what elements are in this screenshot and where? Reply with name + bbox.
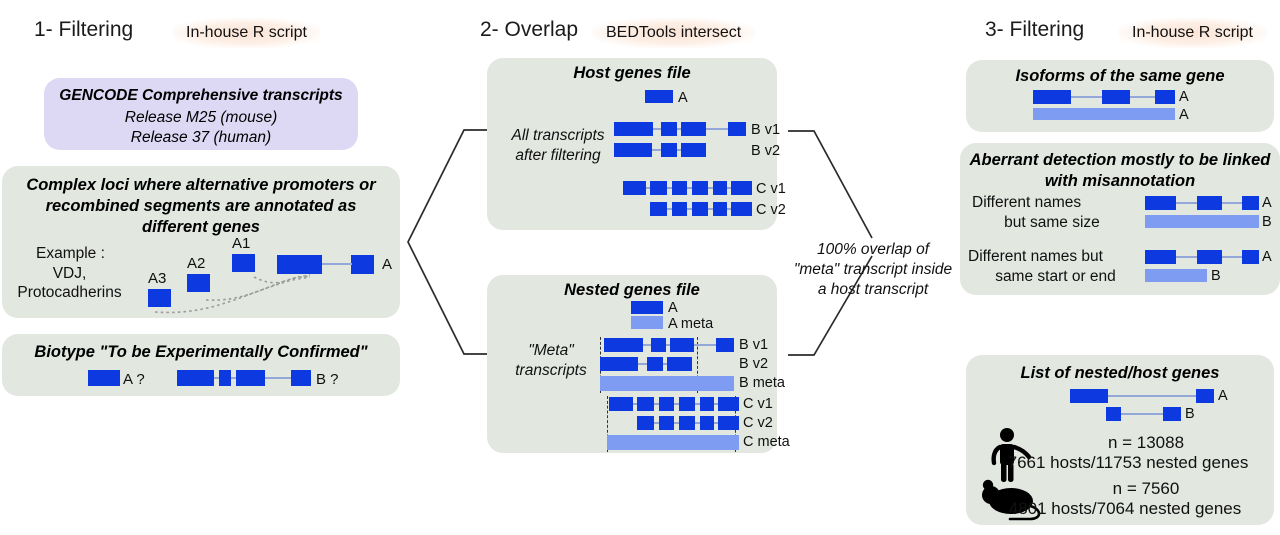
exon-results-a-1 <box>1070 389 1108 403</box>
host-label-b2: B v2 <box>751 144 780 159</box>
exon-biotype-b-2 <box>219 370 231 386</box>
biotype-panel: Biotype "To be Experimentally Confirmed"… <box>2 334 400 396</box>
exon-nested-c1-3 <box>659 397 674 411</box>
intron-host-b1-3 <box>706 128 728 130</box>
exon-host-c1-2 <box>650 181 667 195</box>
aberrant-case2-diagram: A B <box>960 143 1280 295</box>
results-label-b: B <box>1185 407 1195 422</box>
exon-nested-b1-2 <box>651 338 666 352</box>
exon-nested-c2-2 <box>659 416 674 430</box>
exon-aberrant-c2-a-1 <box>1145 250 1176 264</box>
intron-results-b-1 <box>1121 413 1163 415</box>
host-label-b1: B v1 <box>751 123 780 138</box>
nested-label-b-meta: B meta <box>739 376 785 391</box>
exon-host-c1-6 <box>731 181 752 195</box>
nested-genes-diagram: A A meta B v1 B v2 B meta <box>487 275 777 453</box>
aberrant-panel: Aberrant detection mostly to be linked w… <box>960 143 1280 295</box>
intron-biotype-b-3 <box>265 377 291 379</box>
complex-loci-panel: Complex loci where alternative promoters… <box>2 166 400 318</box>
exon-a1 <box>232 254 255 272</box>
intron-aberrant-c2-a-2 <box>1222 256 1242 258</box>
step-2-tool-chip: BEDTools intersect <box>592 18 755 48</box>
exon-host-b1-1 <box>614 122 653 136</box>
biotype-diagram: A ? B ? <box>2 334 400 396</box>
exon-isoform-a-1 <box>1033 90 1071 104</box>
host-label-c1: C v1 <box>756 182 786 197</box>
exon-host-b2-3 <box>681 143 706 157</box>
gencode-line-1: GENCODE Comprehensive transcripts <box>44 87 358 106</box>
gencode-line-3: Release 37 (human) <box>44 129 358 148</box>
exon-host-b1-3 <box>681 122 706 136</box>
metabar-nested-a <box>631 316 663 329</box>
isoforms-label-bottom: A <box>1179 108 1189 123</box>
exon-nested-c2-3 <box>679 416 695 430</box>
exon-nested-c1-6 <box>718 397 739 411</box>
exon-nested-b2-1 <box>600 357 638 371</box>
exon-host-c1-3 <box>672 181 687 195</box>
results-human-n: n = 13088 <box>1018 433 1274 453</box>
results-label-a: A <box>1218 389 1228 404</box>
intron-isoform-a-1 <box>1071 96 1102 98</box>
intron-results-a-1 <box>1108 395 1196 397</box>
complex-loci-label-a1: A1 <box>232 236 250 251</box>
metabar-nested-b <box>600 376 734 391</box>
exon-host-c2-3 <box>692 202 708 216</box>
overlap-note-line-3: a host transcript <box>780 280 966 300</box>
step-1-title: 1- Filtering <box>34 18 133 42</box>
exon-nested-b2-3 <box>667 357 692 371</box>
exon-host-b1-4 <box>728 122 746 136</box>
exon-biotype-b-4 <box>291 370 311 386</box>
exon-nested-b2-2 <box>647 357 663 371</box>
gencode-panel: GENCODE Comprehensive transcripts Releas… <box>44 78 358 150</box>
exon-nested-c1-5 <box>700 397 714 411</box>
host-label-a: A <box>678 91 688 106</box>
exon-isoform-a-2 <box>1102 90 1130 104</box>
exon-host-c2-4 <box>713 202 727 216</box>
complex-loci-label-a: A <box>382 257 392 272</box>
isoforms-panel: Isoforms of the same gene A A <box>966 60 1274 132</box>
results-human-detail: 7661 hosts/11753 nested genes <box>982 453 1274 473</box>
exon-host-c2-5 <box>731 202 752 216</box>
exon-a3 <box>148 289 171 307</box>
step-3-title: 3- Filtering <box>985 18 1084 42</box>
isoforms-diagram: A A <box>966 60 1274 132</box>
left-bracket-connector <box>404 122 490 362</box>
intron-isoform-a-2 <box>1130 96 1155 98</box>
exon-a-main-1 <box>277 255 322 274</box>
complex-loci-diagram: A3 A2 A1 A <box>2 166 400 318</box>
exon-isoform-a-3 <box>1155 90 1175 104</box>
overlap-note-line-2: "meta" transcript inside <box>780 260 966 280</box>
exon-a2 <box>187 274 210 292</box>
exon-biotype-b-1 <box>177 370 214 386</box>
nested-label-b1: B v1 <box>739 338 768 353</box>
biotype-label-b: B ? <box>316 372 339 387</box>
exon-nested-a <box>631 301 663 314</box>
intron-nested-b1-3 <box>694 344 716 346</box>
aberrant-case2-label-a: A <box>1262 250 1272 265</box>
nested-label-c1: C v1 <box>743 397 773 412</box>
exon-host-b2-1 <box>614 143 652 157</box>
intron-nested-b1-1 <box>643 344 651 346</box>
exon-biotype-b-3 <box>236 370 265 386</box>
exon-nested-b1-3 <box>670 338 694 352</box>
intron-host-b1-1 <box>653 128 661 130</box>
exon-host-c1-5 <box>713 181 727 195</box>
complex-loci-label-a2: A2 <box>187 256 205 271</box>
results-mouse-n: n = 7560 <box>1018 479 1274 499</box>
nested-label-c2: C v2 <box>743 416 773 431</box>
nested-label-a: A <box>668 301 678 316</box>
results-mouse-detail: 4801 hosts/7064 nested genes <box>976 499 1274 519</box>
exon-host-a <box>645 90 673 103</box>
exon-results-b-2 <box>1163 407 1181 421</box>
exon-nested-b1-1 <box>604 338 643 352</box>
exon-host-c1-4 <box>692 181 708 195</box>
exon-aberrant-c2-a-3 <box>1242 250 1259 264</box>
exon-nested-c1-1 <box>609 397 633 411</box>
overlap-note-line-1: 100% overlap of <box>780 240 966 260</box>
step-2-title: 2- Overlap <box>480 18 578 42</box>
exon-nested-c2-5 <box>718 416 739 430</box>
exon-results-a-2 <box>1196 389 1214 403</box>
host-label-c2: C v2 <box>756 203 786 218</box>
exon-results-b-1 <box>1106 407 1121 421</box>
exon-aberrant-c2-a-2 <box>1197 250 1222 264</box>
exon-nested-b1-4 <box>716 338 734 352</box>
exon-nested-c2-1 <box>637 416 654 430</box>
exon-host-b2-2 <box>661 143 677 157</box>
metabar-aberrant-c2-b <box>1145 269 1207 282</box>
nested-genes-panel: Nested genes file "Meta" transcripts A A… <box>487 275 777 453</box>
intron-a-main-1 <box>322 263 351 265</box>
aberrant-case2-label-b: B <box>1211 269 1221 284</box>
metabar-isoform-a <box>1033 108 1175 120</box>
exon-biotype-a <box>88 370 120 386</box>
exon-nested-c1-4 <box>679 397 695 411</box>
exon-host-c2-1 <box>650 202 667 216</box>
complex-loci-label-a3: A3 <box>148 271 166 286</box>
intron-aberrant-c2-a-1 <box>1176 256 1197 258</box>
metabar-nested-c <box>607 435 739 450</box>
step-3-tool-chip: In-house R script <box>1118 18 1267 48</box>
exon-host-c1-1 <box>623 181 646 195</box>
nested-label-c-meta: C meta <box>743 435 790 450</box>
exon-nested-c2-4 <box>700 416 714 430</box>
exon-host-c2-2 <box>672 202 687 216</box>
biotype-label-a: A ? <box>123 372 145 387</box>
nested-label-b2: B v2 <box>739 357 768 372</box>
nested-label-a-meta: A meta <box>668 317 713 332</box>
gencode-line-2: Release M25 (mouse) <box>44 109 358 128</box>
host-genes-panel: Host genes file All transcripts after fi… <box>487 58 777 230</box>
exon-a-main-2 <box>351 255 374 274</box>
intron-nested-b2-1 <box>638 363 647 365</box>
intron-host-b2-1 <box>652 149 661 151</box>
step-1-tool-chip: In-house R script <box>172 18 321 48</box>
isoforms-label-top: A <box>1179 90 1189 105</box>
exon-host-b1-2 <box>661 122 677 136</box>
figure-canvas: 1- Filtering In-house R script GENCODE C… <box>0 0 1280 535</box>
exon-nested-c1-2 <box>637 397 654 411</box>
results-panel: List of nested/host genes A B n = 13088 … <box>966 355 1274 525</box>
host-genes-diagram: A B v1 B v2 <box>487 58 777 230</box>
